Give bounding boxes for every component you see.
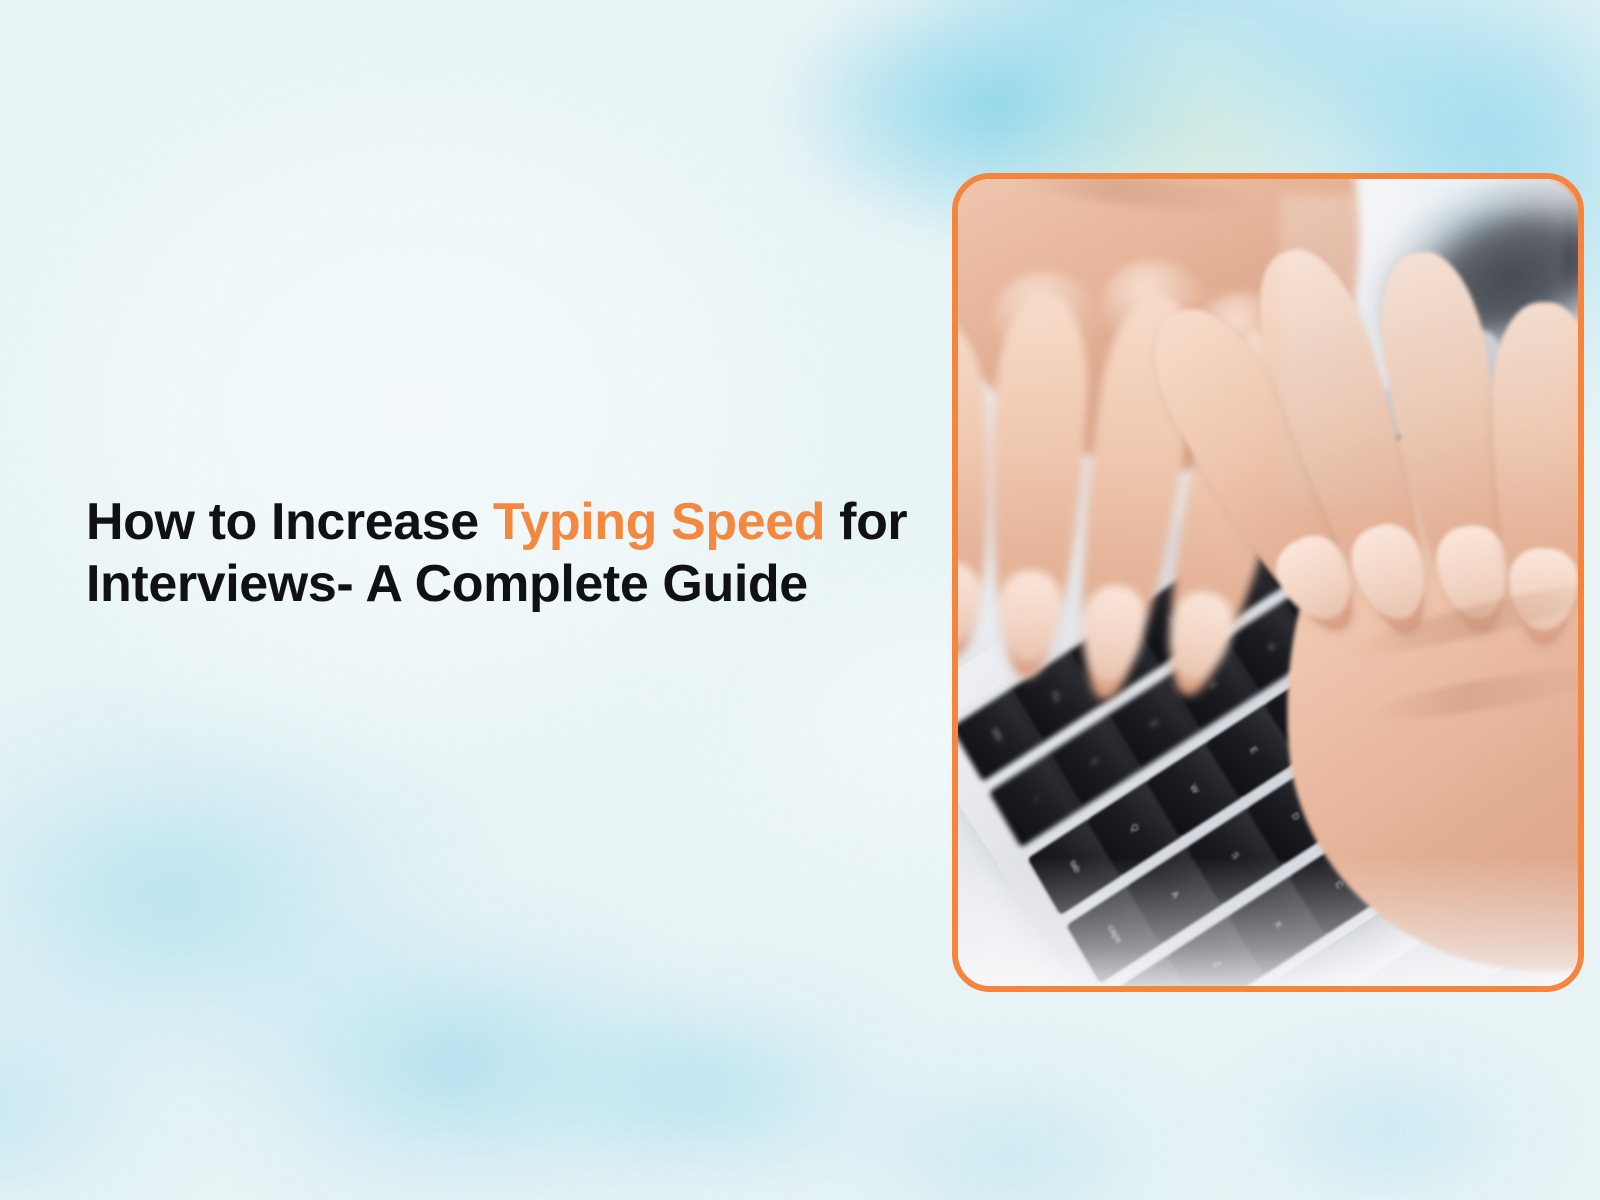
banner-headline: How to Increase Typing Speed forIntervie…	[86, 492, 946, 616]
headline-line2: Interviews- A Complete Guide	[86, 555, 808, 613]
hero-image: escF1F2F3F4F5F6F7F8~12345678tabQWERTYUIc…	[958, 179, 1578, 986]
headline-line1-prefix: How to Increase	[86, 493, 493, 551]
headline-accent-typing-speed: Typing Speed	[493, 493, 825, 551]
hero-image-frame: escF1F2F3F4F5F6F7F8~12345678tabQWERTYUIc…	[952, 173, 1584, 992]
blog-banner: How to Increase Typing Speed forIntervie…	[0, 0, 1600, 1200]
headline-line1-suffix: for	[825, 493, 907, 551]
